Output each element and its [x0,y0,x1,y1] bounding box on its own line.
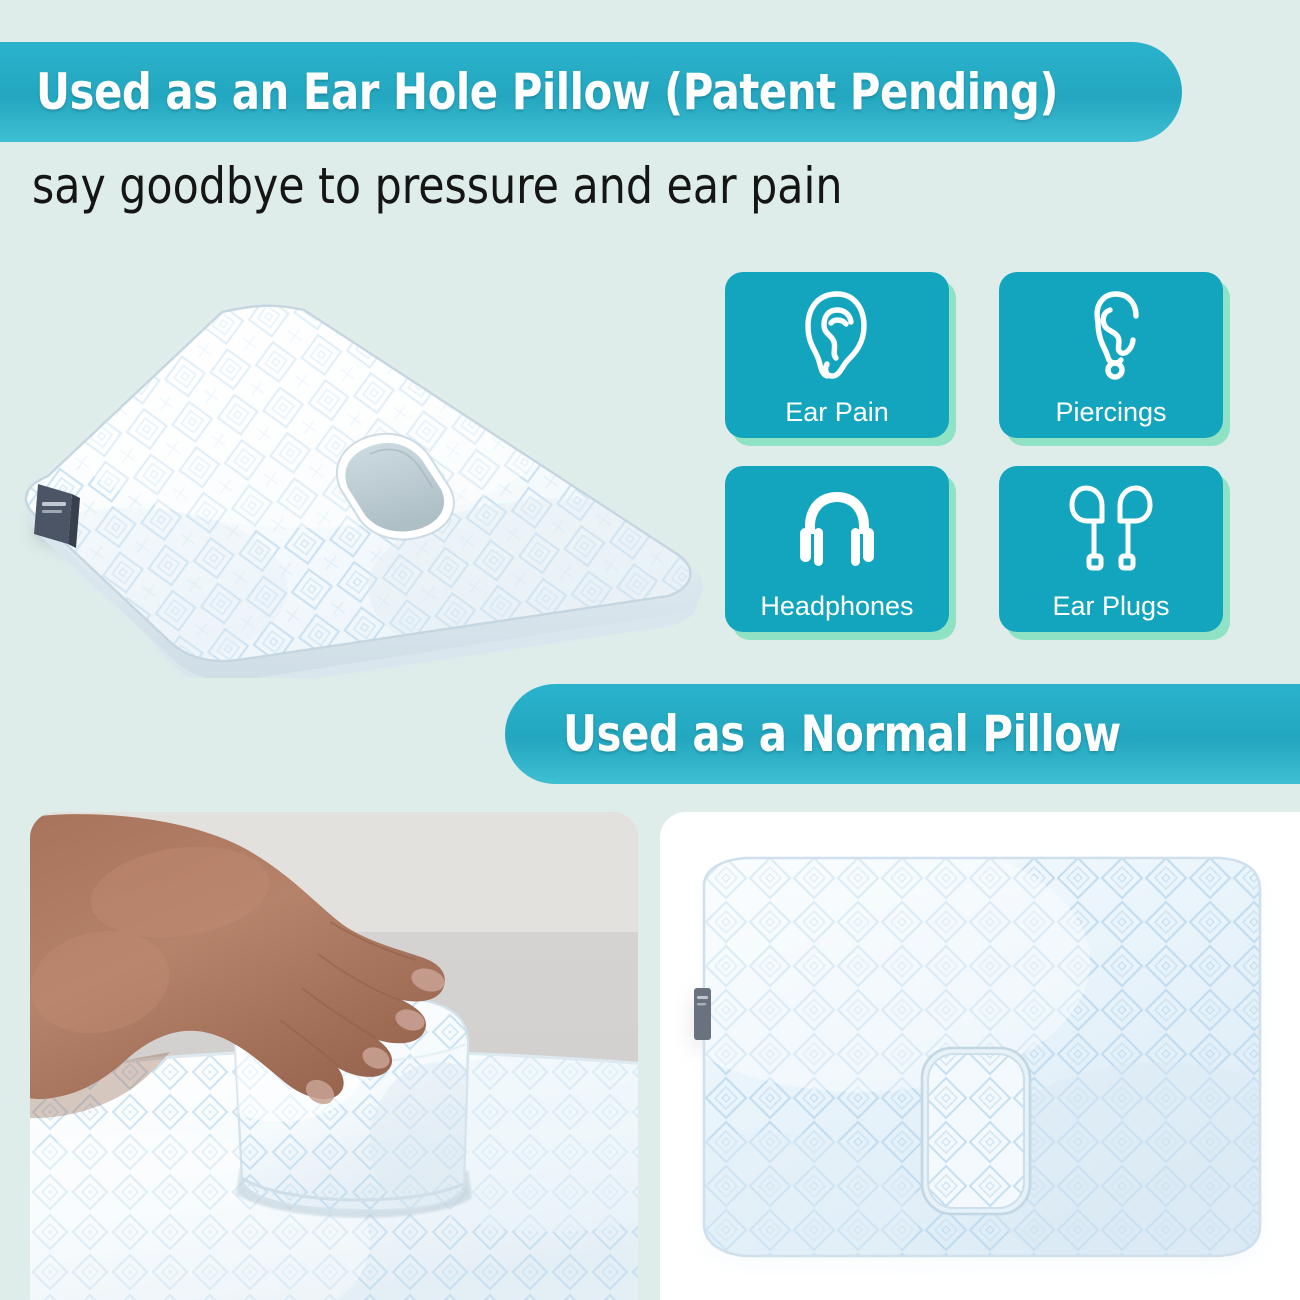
earbuds-icon [1068,480,1154,576]
banner-normal-pillow: Used as a Normal Pillow [505,684,1300,784]
photo-hand-inserting-plug [30,812,638,1300]
feature-label: Ear Pain [725,397,949,428]
feature-card-grid: Ear Pain Piercings [725,272,1225,648]
feature-label: Piercings [999,397,1223,428]
banner-top-title: Used as an Ear Hole Pillow (Patent Pendi… [36,63,1058,121]
feature-label: Ear Plugs [999,591,1223,622]
brand-tag [694,988,711,1040]
feature-card-piercings[interactable]: Piercings [999,272,1223,438]
ear-hole-plug [920,1048,1032,1218]
banner-ear-hole-pillow: Used as an Ear Hole Pillow (Patent Pendi… [0,42,1182,142]
headphones-icon [794,480,880,576]
banner-bottom-title: Used as a Normal Pillow [563,705,1121,763]
hero-pillow-photo [8,288,718,678]
photo-pillow-top-view [660,812,1300,1300]
feature-label: Headphones [725,591,949,622]
feature-card-headphones[interactable]: Headphones [725,466,949,632]
subtitle-text: say goodbye to pressure and ear pain [32,157,842,215]
ear-piercing-icon [1068,286,1154,382]
feature-card-ear-plugs[interactable]: Ear Plugs [999,466,1223,632]
feature-card-ear-pain[interactable]: Ear Pain [725,272,949,438]
ear-icon [794,286,880,382]
